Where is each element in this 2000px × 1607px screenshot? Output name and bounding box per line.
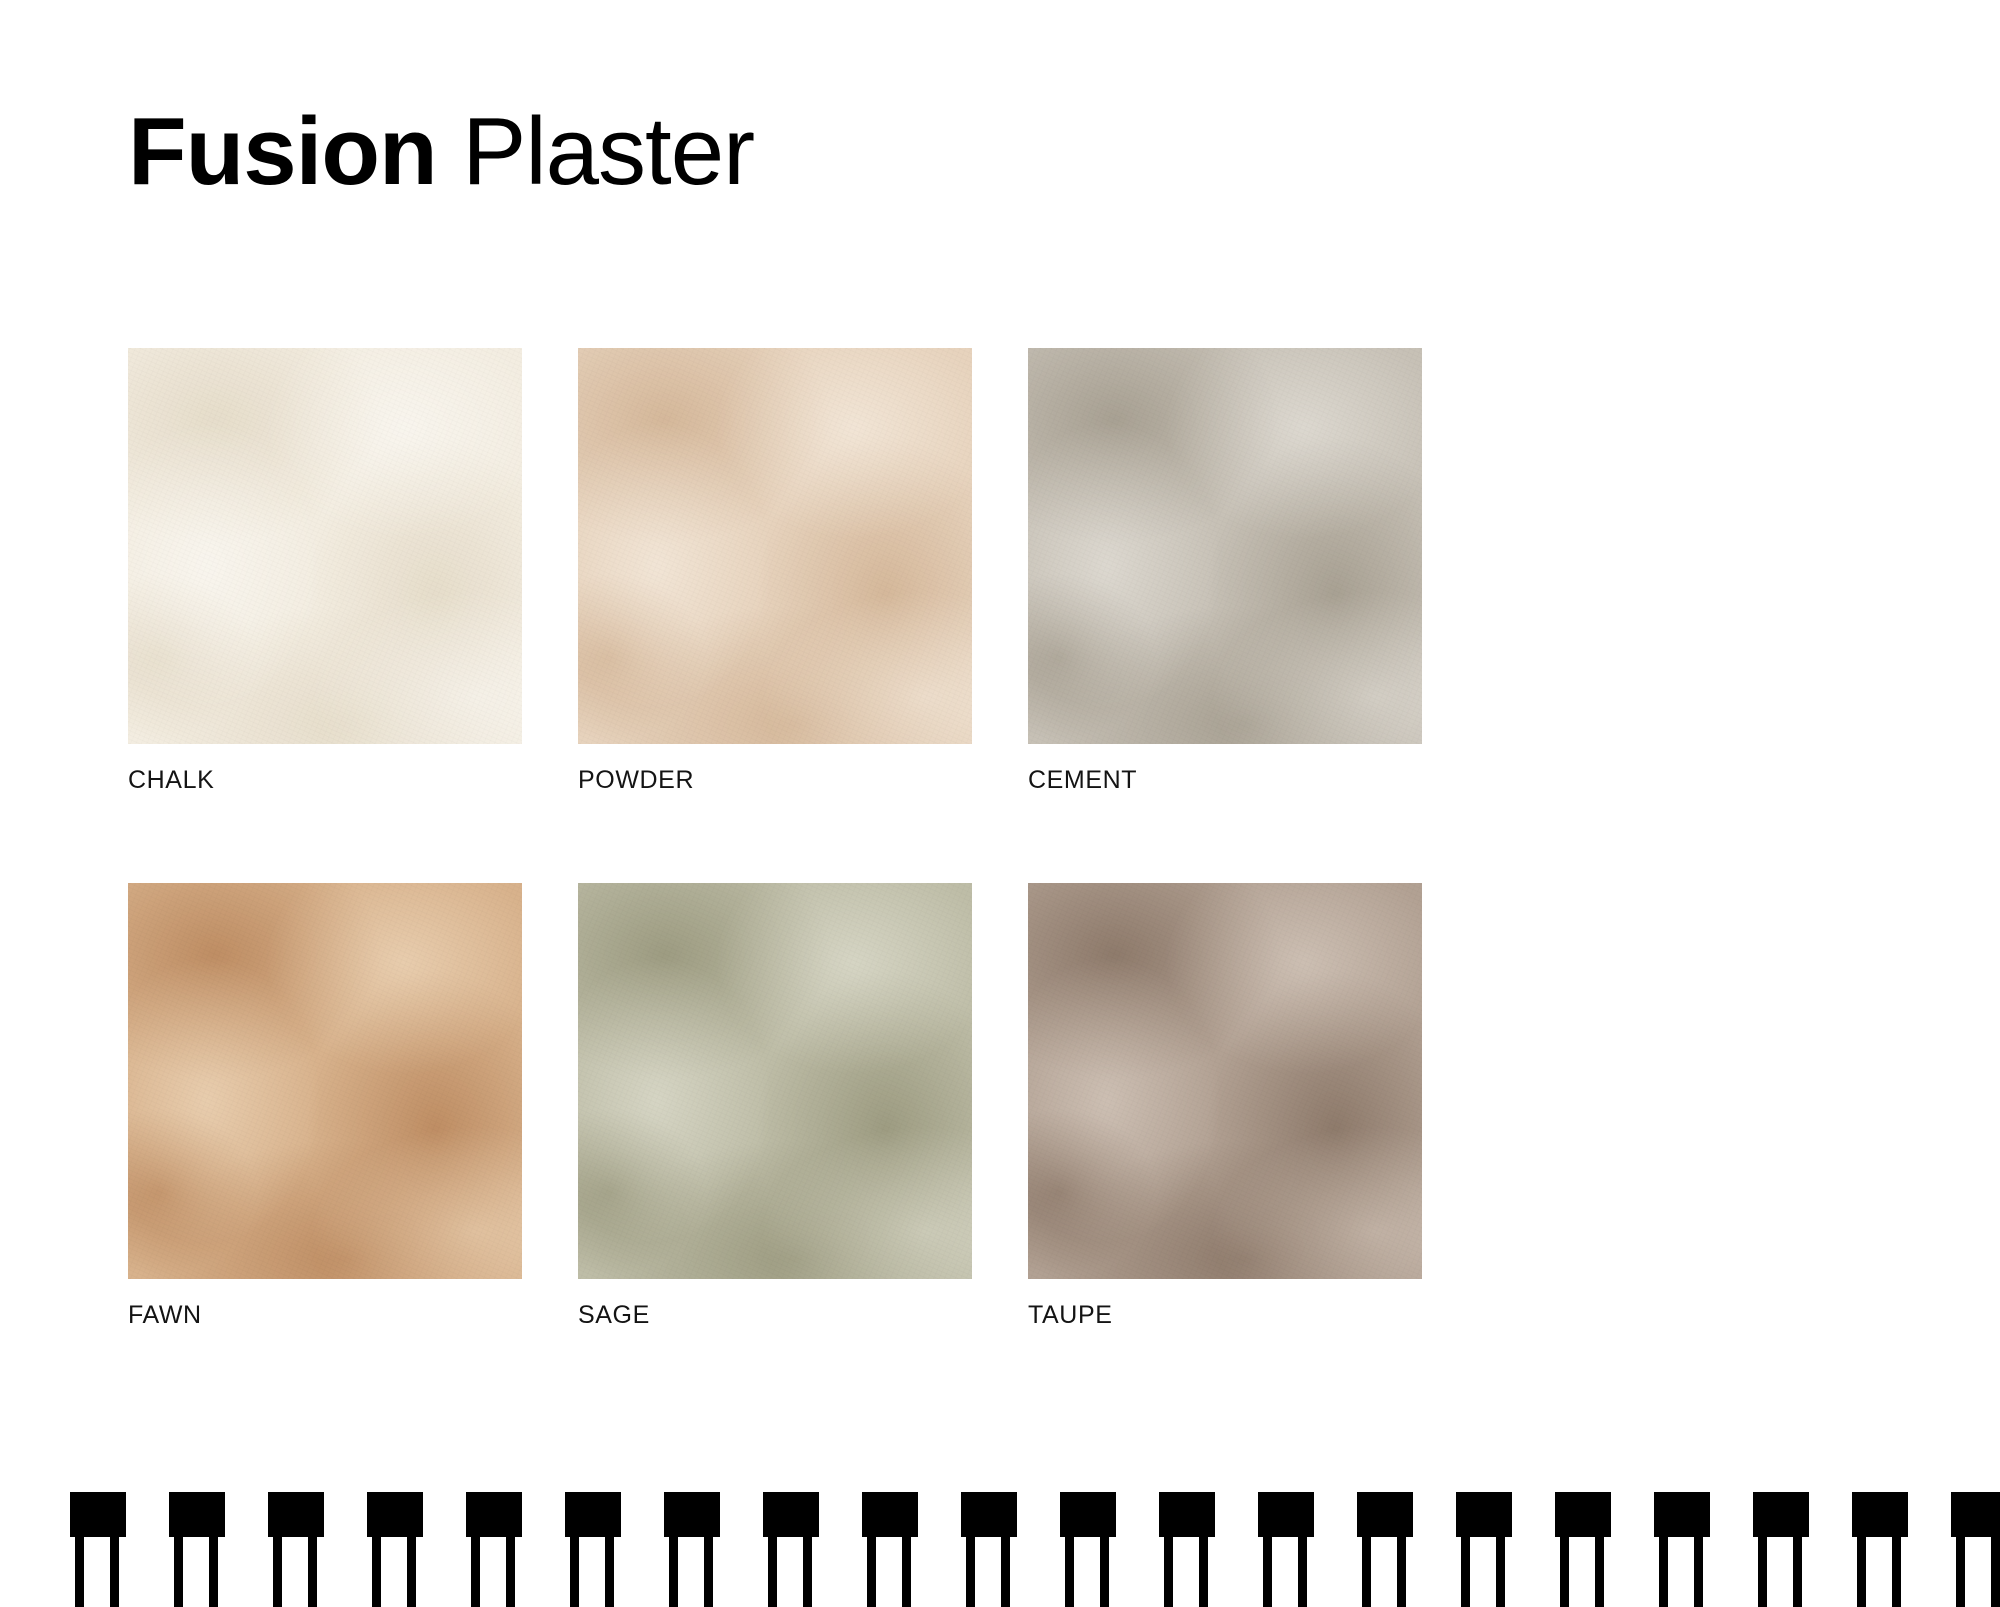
binding-coil-leg-right <box>605 1537 614 1607</box>
page-title-bold: Fusion <box>128 98 437 205</box>
binding-coil-leg-left <box>1659 1537 1668 1607</box>
swatch-grain <box>128 883 522 1279</box>
binding-coil-leg-right <box>1001 1537 1010 1607</box>
binding-coil-leg-right <box>902 1537 911 1607</box>
page-title-regular: Plaster <box>462 98 754 205</box>
color-swatch[interactable] <box>1028 348 1422 744</box>
binding-coil-head <box>1357 1492 1413 1537</box>
binding-coil <box>268 1492 324 1607</box>
color-swatch[interactable] <box>1028 883 1422 1279</box>
binding-coil-leg-left <box>966 1537 975 1607</box>
binding-coil-leg-left <box>1362 1537 1371 1607</box>
swatch-label: CHALK <box>128 768 522 793</box>
swatch-grain <box>578 348 972 744</box>
binding-coil-leg-left <box>1164 1537 1173 1607</box>
binding-coil-leg-left <box>669 1537 678 1607</box>
swatch-grain <box>1028 883 1422 1279</box>
binding-coil-leg-right <box>704 1537 713 1607</box>
binding-coil-leg-left <box>75 1537 84 1607</box>
swatch-label: POWDER <box>578 768 972 793</box>
binding-coil <box>1456 1492 1512 1607</box>
binding-coil <box>1159 1492 1215 1607</box>
binding-coil-leg-right <box>1100 1537 1109 1607</box>
binding-coil <box>1555 1492 1611 1607</box>
binding-coil <box>466 1492 522 1607</box>
binding-coil-head <box>70 1492 126 1537</box>
binding-coil-head <box>1555 1492 1611 1537</box>
binding-coil-leg-right <box>308 1537 317 1607</box>
binding-coil <box>367 1492 423 1607</box>
binding-coil-head <box>1456 1492 1512 1537</box>
swatch-cell: POWDER <box>578 348 972 793</box>
binding-coil <box>1852 1492 1908 1607</box>
binding-coil-leg-left <box>1065 1537 1074 1607</box>
binding-coil-leg-left <box>570 1537 579 1607</box>
binding-coil-leg-right <box>110 1537 119 1607</box>
binding-coil-leg-left <box>273 1537 282 1607</box>
swatch-cell: FAWN <box>128 883 522 1328</box>
color-swatch[interactable] <box>578 883 972 1279</box>
binding-coil-head <box>1258 1492 1314 1537</box>
binding-coil-leg-left <box>471 1537 480 1607</box>
binding-coil-leg-right <box>1892 1537 1901 1607</box>
swatch-cell: TAUPE <box>1028 883 1422 1328</box>
binding-coil-head <box>1159 1492 1215 1537</box>
swatch-label: SAGE <box>578 1303 972 1328</box>
binding-coil-leg-right <box>1595 1537 1604 1607</box>
binding-coil-leg-right <box>1694 1537 1703 1607</box>
binding-coil <box>1951 1492 2000 1607</box>
page-title-regular-spacer <box>437 98 463 205</box>
document-page: Fusion Plaster CHALKPOWDERCEMENTFAWNSAGE… <box>0 0 2000 1607</box>
binding-coil-leg-right <box>1496 1537 1505 1607</box>
binding-coil-leg-right <box>1991 1537 2000 1607</box>
binding-coil-leg-left <box>1263 1537 1272 1607</box>
binding-coil-leg-right <box>1199 1537 1208 1607</box>
swatch-label: TAUPE <box>1028 1303 1422 1328</box>
binding-coil <box>1357 1492 1413 1607</box>
binding-coil <box>763 1492 819 1607</box>
swatch-cell: CHALK <box>128 348 522 793</box>
color-swatch[interactable] <box>128 883 522 1279</box>
binding-coil-head <box>466 1492 522 1537</box>
binding-coil-leg-left <box>768 1537 777 1607</box>
binding-coil-head <box>367 1492 423 1537</box>
binding-coil-leg-left <box>1560 1537 1569 1607</box>
binding-coil-head <box>664 1492 720 1537</box>
binding-coil <box>664 1492 720 1607</box>
page-title: Fusion Plaster <box>128 104 754 200</box>
binding-coil-head <box>565 1492 621 1537</box>
binding-coil-leg-right <box>407 1537 416 1607</box>
binding-coil-head <box>1060 1492 1116 1537</box>
binding-coil <box>1060 1492 1116 1607</box>
binding-coil <box>961 1492 1017 1607</box>
binding-coil <box>1258 1492 1314 1607</box>
binding-coil-head <box>961 1492 1017 1537</box>
swatch-cell: SAGE <box>578 883 972 1328</box>
binding-coil-head <box>1951 1492 2000 1537</box>
binding-coil-leg-left <box>1758 1537 1767 1607</box>
binding-coil-leg-right <box>209 1537 218 1607</box>
spiral-binding <box>0 1492 2000 1607</box>
binding-coil-leg-left <box>372 1537 381 1607</box>
binding-coil-head <box>169 1492 225 1537</box>
swatch-grain <box>128 348 522 744</box>
binding-coil-leg-left <box>174 1537 183 1607</box>
binding-coil-leg-right <box>1397 1537 1406 1607</box>
swatch-label: FAWN <box>128 1303 522 1328</box>
binding-coil-leg-right <box>803 1537 812 1607</box>
binding-coil-head <box>862 1492 918 1537</box>
binding-coil-leg-left <box>1461 1537 1470 1607</box>
color-swatch-grid: CHALKPOWDERCEMENTFAWNSAGETAUPE <box>128 348 1422 1328</box>
binding-coil-leg-left <box>1857 1537 1866 1607</box>
binding-coil-leg-left <box>1956 1537 1965 1607</box>
binding-coil-head <box>1852 1492 1908 1537</box>
color-swatch[interactable] <box>128 348 522 744</box>
binding-coil-head <box>1654 1492 1710 1537</box>
binding-coil-head <box>763 1492 819 1537</box>
binding-coil-head <box>1753 1492 1809 1537</box>
color-swatch[interactable] <box>578 348 972 744</box>
binding-coil <box>565 1492 621 1607</box>
binding-coil <box>1753 1492 1809 1607</box>
binding-coil-leg-left <box>867 1537 876 1607</box>
binding-coil <box>1654 1492 1710 1607</box>
swatch-grain <box>1028 348 1422 744</box>
swatch-cell: CEMENT <box>1028 348 1422 793</box>
binding-coil <box>169 1492 225 1607</box>
binding-coil-leg-right <box>1298 1537 1307 1607</box>
binding-coil <box>70 1492 126 1607</box>
binding-coil-head <box>268 1492 324 1537</box>
swatch-grain <box>578 883 972 1279</box>
swatch-label: CEMENT <box>1028 768 1422 793</box>
binding-coil-leg-right <box>1793 1537 1802 1607</box>
binding-coil-leg-right <box>506 1537 515 1607</box>
binding-coil <box>862 1492 918 1607</box>
